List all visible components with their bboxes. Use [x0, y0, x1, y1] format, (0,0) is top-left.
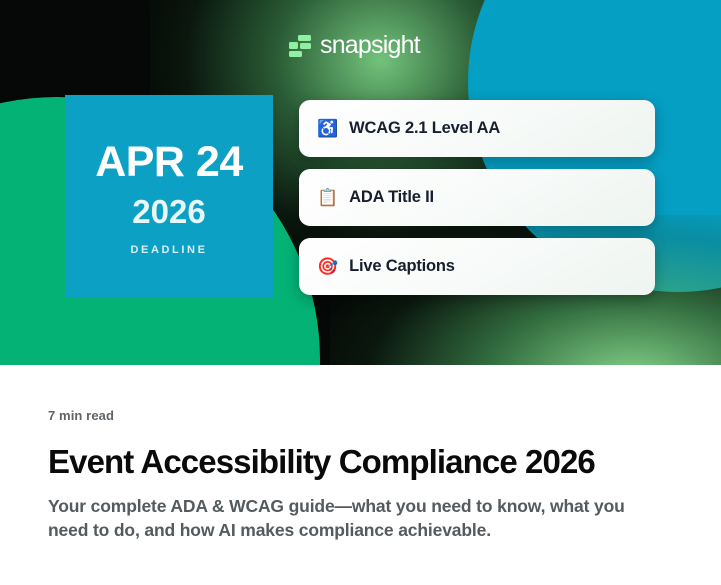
read-time-label: 7 min read [48, 408, 673, 423]
feature-card-label: Live Captions [349, 257, 455, 276]
wheelchair-accessibility-icon: ♿ [317, 120, 338, 137]
deadline-label: DEADLINE [130, 244, 207, 256]
deadline-year: 2026 [132, 195, 205, 228]
snapsight-logo-mark-icon [289, 34, 311, 58]
article-content: 7 min read Event Accessibility Complianc… [0, 365, 721, 543]
brand-logo[interactable]: snapsight [289, 33, 420, 58]
feature-card-label: ADA Title II [349, 188, 434, 207]
feature-card-list: ♿ WCAG 2.1 Level AA 📋 ADA Title II 🎯 Liv… [299, 100, 655, 295]
article-title: Event Accessibility Compliance 2026 [48, 444, 673, 481]
hero-banner: snapsight APR 24 2026 DEADLINE ♿ WCAG 2.… [0, 0, 721, 365]
feature-card-wcag[interactable]: ♿ WCAG 2.1 Level AA [299, 100, 655, 157]
feature-card-live-captions[interactable]: 🎯 Live Captions [299, 238, 655, 295]
feature-card-label: WCAG 2.1 Level AA [349, 119, 500, 138]
brand-name: snapsight [320, 33, 420, 58]
deadline-month-day: APR 24 [95, 141, 243, 184]
deadline-date-badge: APR 24 2026 DEADLINE [65, 95, 273, 297]
clipboard-icon: 📋 [317, 189, 338, 206]
target-icon: 🎯 [317, 258, 338, 275]
article-subtitle: Your complete ADA & WCAG guide—what you … [48, 495, 633, 543]
feature-card-ada[interactable]: 📋 ADA Title II [299, 169, 655, 226]
article-hero-card: snapsight APR 24 2026 DEADLINE ♿ WCAG 2.… [0, 0, 721, 585]
